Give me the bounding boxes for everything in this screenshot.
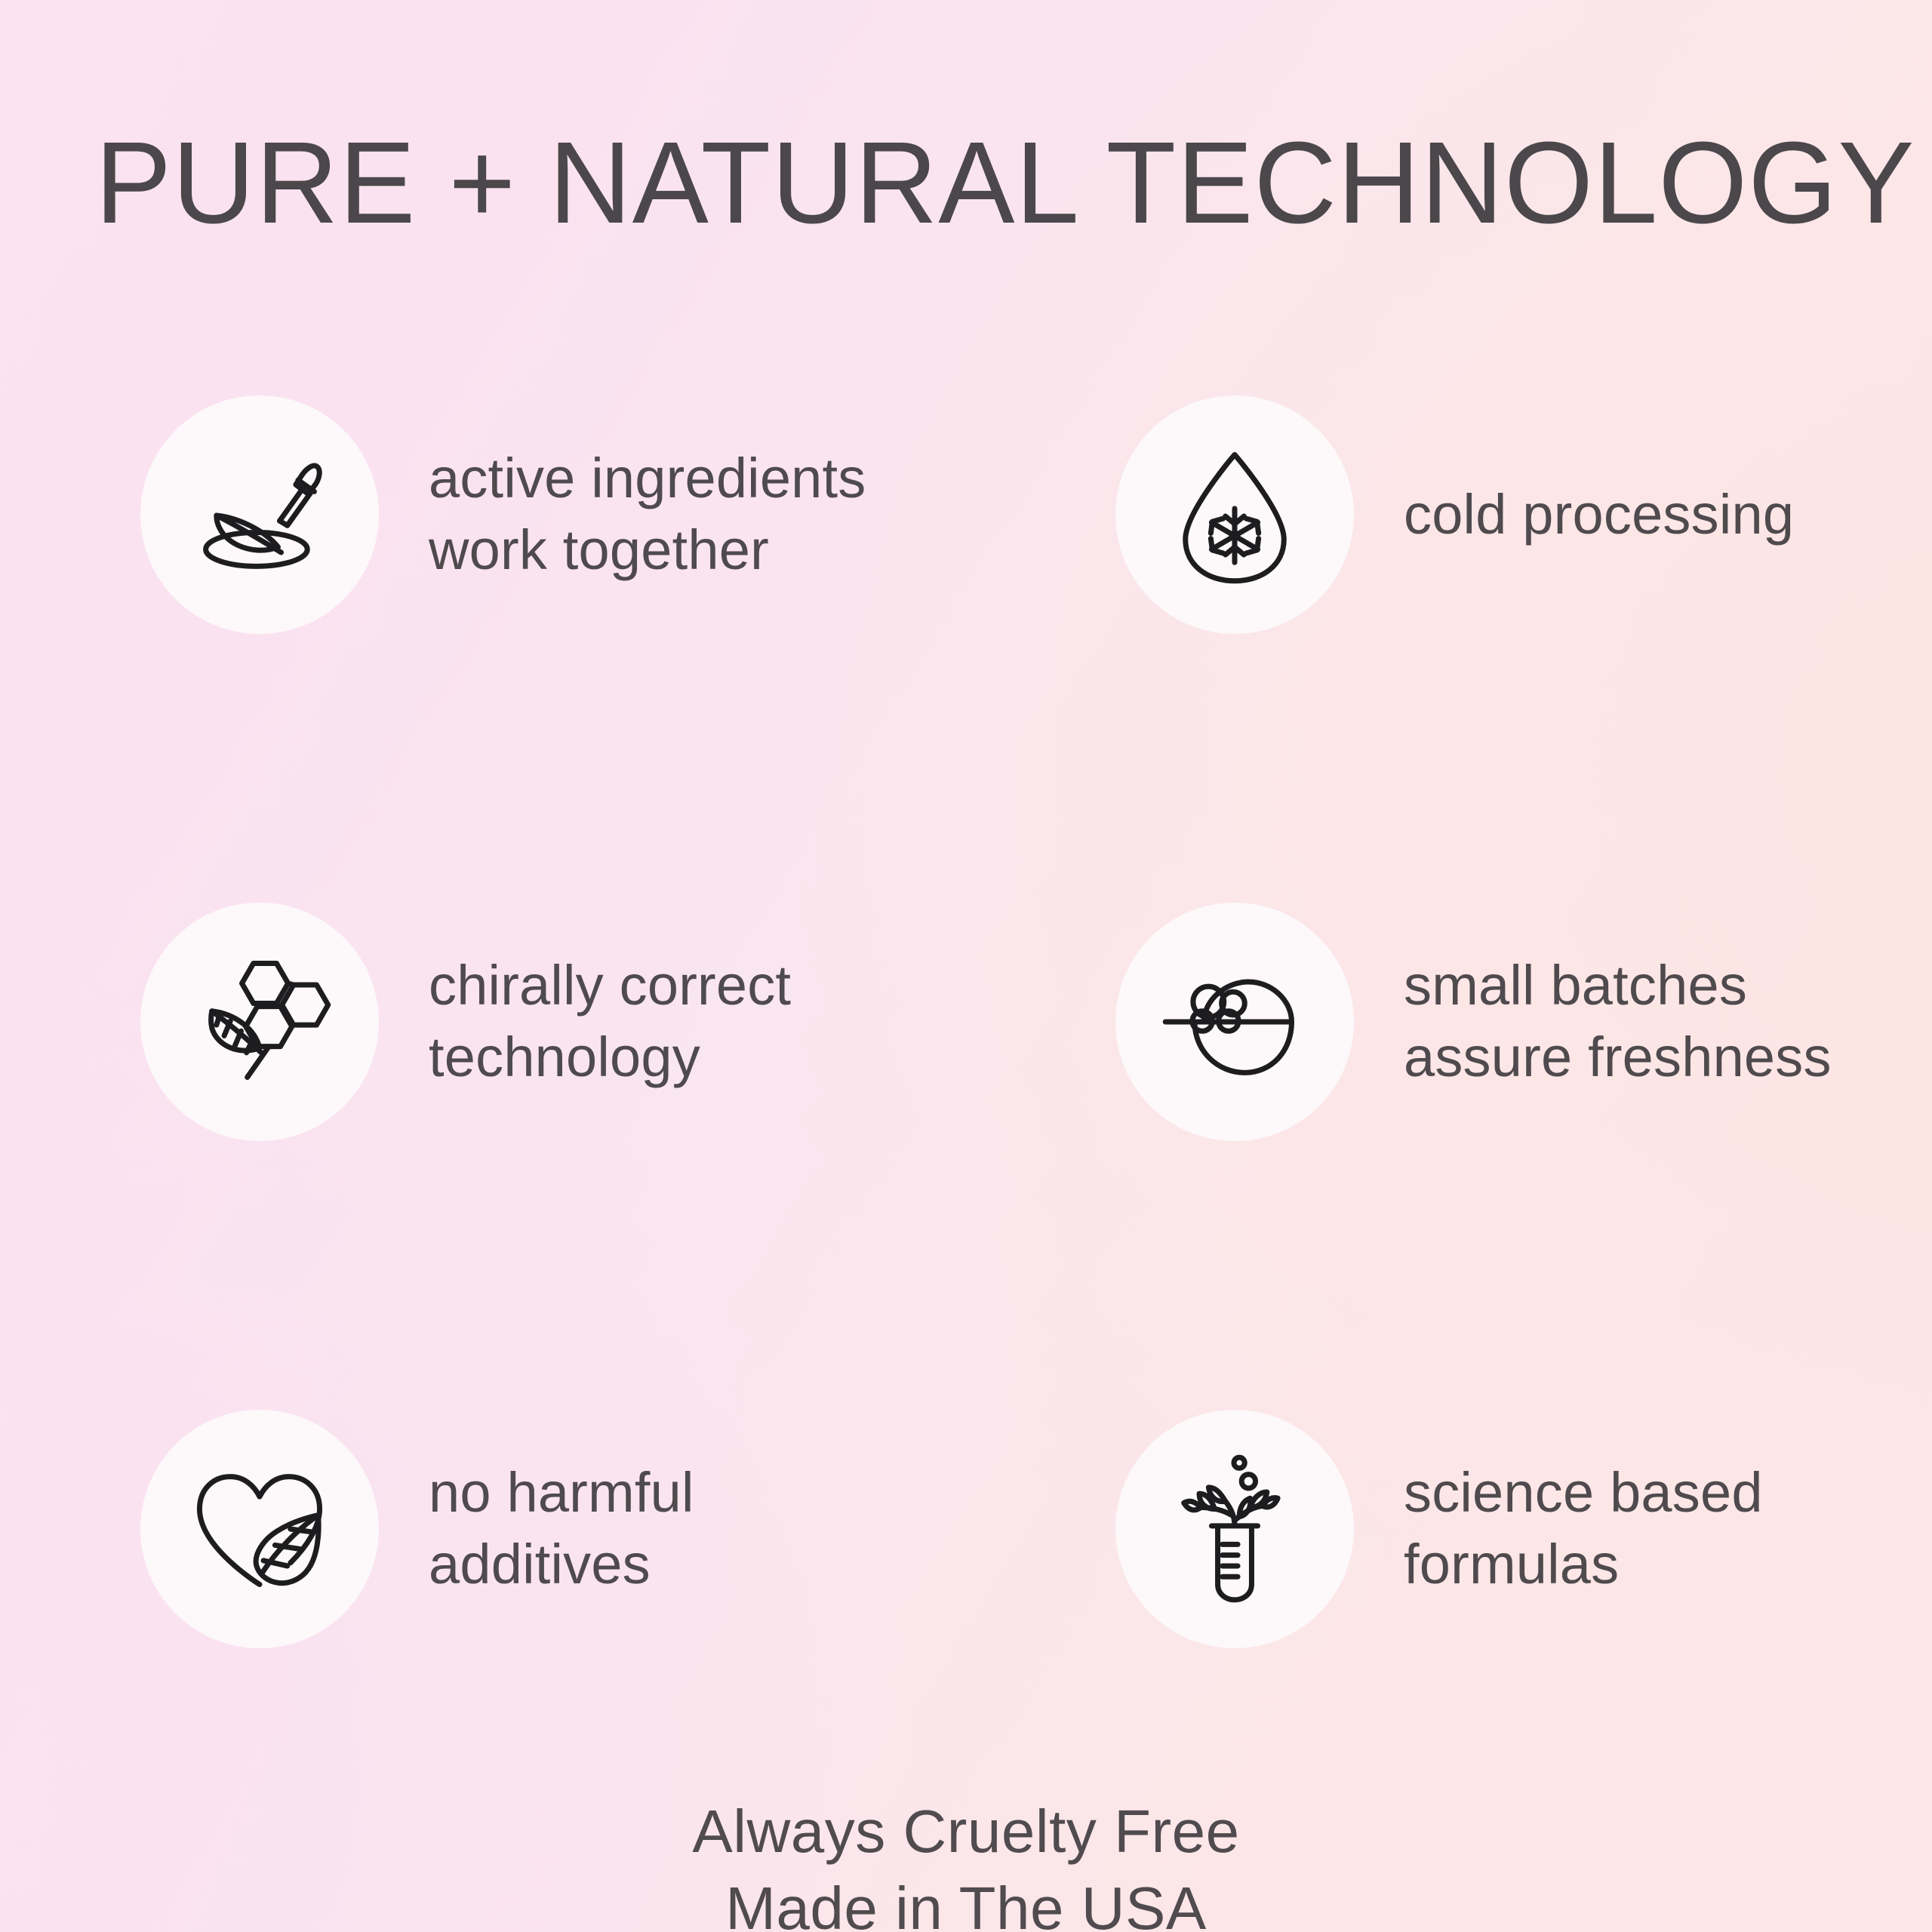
feature-grid: active ingredients work together xyxy=(0,0,1932,1932)
test-tube-plant-icon xyxy=(1115,1410,1354,1648)
leaf-berries-bowl-icon xyxy=(1115,903,1354,1141)
feature-label: active ingredients work together xyxy=(429,443,866,586)
feature-label: small batches assure freshness xyxy=(1404,950,1832,1093)
footer-text: Always Cruelty Free Made in The USA xyxy=(0,1793,1932,1932)
water-drop-snowflake-icon xyxy=(1115,395,1354,634)
feature-label: science based formulas xyxy=(1404,1457,1763,1600)
feature-item-no-harmful-additives: no harmful additives xyxy=(140,1410,1031,1648)
feature-item-chirally-correct: chirally correct technology xyxy=(140,903,1031,1141)
feature-label: no harmful additives xyxy=(429,1457,694,1600)
footer-line-made-in-usa: Made in The USA xyxy=(0,1870,1932,1932)
hexagon-molecule-leaf-icon xyxy=(140,903,379,1141)
poster-canvas: PURE + NATURAL TECHNOLOGY xyxy=(0,0,1932,1932)
feature-label: cold processing xyxy=(1404,479,1794,551)
feature-item-science-based: science based formulas xyxy=(1115,1410,1915,1648)
feature-label: chirally correct technology xyxy=(429,950,791,1093)
feature-item-active-ingredients: active ingredients work together xyxy=(140,395,1031,634)
heart-leaf-icon xyxy=(140,1410,379,1648)
footer-line-cruelty-free: Always Cruelty Free xyxy=(0,1793,1932,1870)
feature-item-small-batches: small batches assure freshness xyxy=(1115,903,1915,1141)
feature-item-cold-processing: cold processing xyxy=(1115,395,1915,634)
dropper-leaf-icon xyxy=(140,395,379,634)
